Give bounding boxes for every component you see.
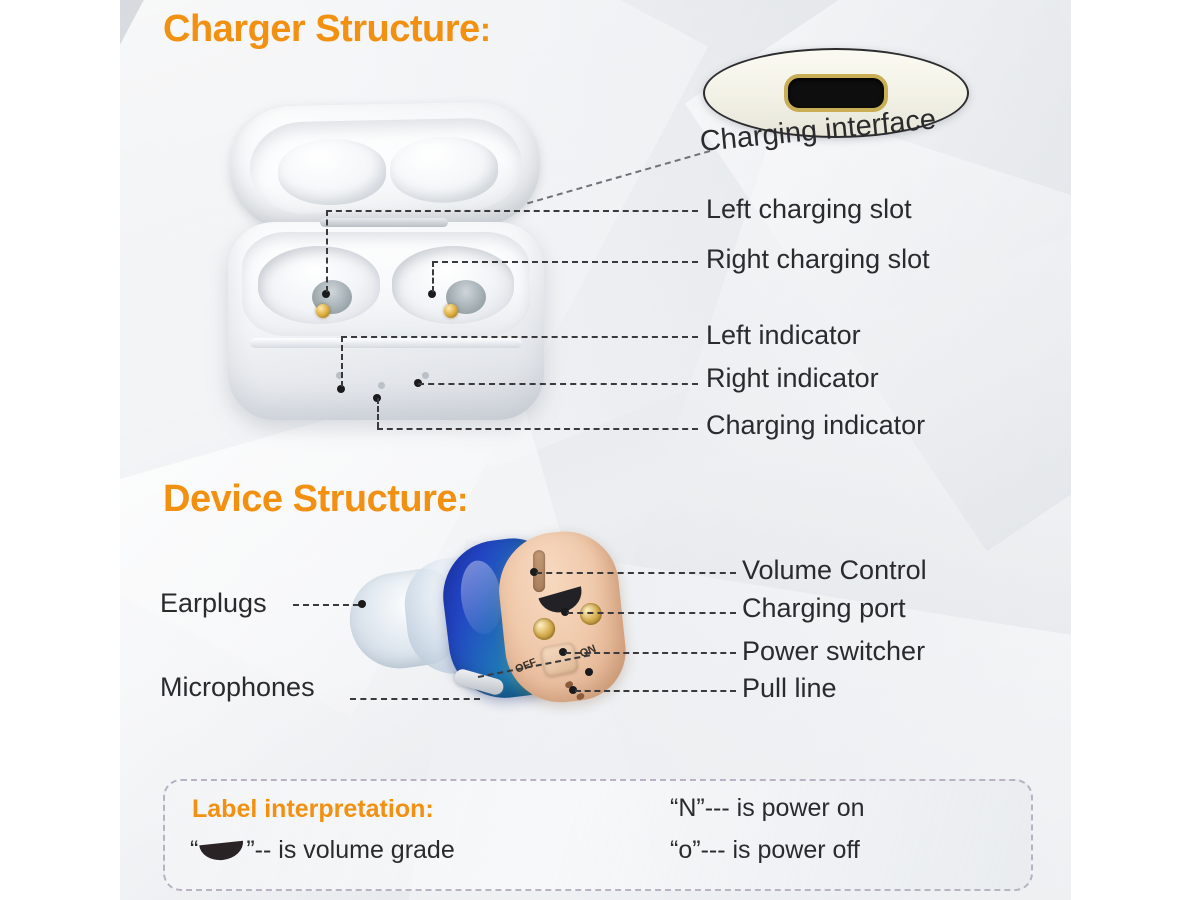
leader-volume-control: [536, 572, 736, 574]
leader-microphones-h: [350, 698, 480, 700]
legend-title: Label interpretation:: [192, 795, 434, 824]
leader-charging-indicator-v: [377, 398, 379, 428]
microphone-hole: [576, 692, 586, 701]
legend-power-on-dashes: ---: [705, 794, 730, 822]
right-charging-slot-art: [392, 246, 514, 324]
usb-c-port-icon: [784, 74, 888, 112]
label-volume-control: Volume Control: [742, 557, 927, 584]
legend-box: Label interpretation: “”-- is volume gra…: [163, 779, 1033, 891]
legend-power-on-text: is power on: [737, 794, 865, 822]
label-microphones: Microphones: [160, 674, 315, 701]
leader-charging-indicator-h: [377, 428, 698, 430]
case-body: [228, 222, 544, 420]
case-lid-inner: [249, 117, 523, 215]
leader-right-indicator-h: [418, 383, 698, 385]
label-right-charging-slot: Right charging slot: [706, 246, 930, 273]
charging-indicator-led: [378, 382, 385, 389]
infographic-canvas: Charger Structure:: [0, 0, 1200, 900]
charger-heading-colon: :: [480, 11, 491, 49]
label-left-charging-slot: Left charging slot: [706, 196, 912, 223]
legend-power-off-symbol: “o”: [670, 836, 701, 864]
case-hinge: [320, 218, 448, 227]
leader-power-switcher: [565, 652, 736, 654]
quote-open: “: [190, 836, 198, 864]
charger-section-heading: Charger Structure:: [163, 8, 491, 51]
case-lip: [250, 338, 522, 348]
leader-left-charging-slot-h: [326, 210, 698, 212]
leader-left-indicator-v: [341, 336, 343, 387]
label-left-indicator: Left indicator: [706, 322, 861, 349]
legend-power-on-row: “N”--- is power on: [670, 794, 865, 823]
label-pull-line: Pull line: [742, 675, 837, 702]
leader-charging-port: [567, 612, 736, 614]
quote-close: ”: [246, 836, 254, 864]
leader-pull-line: [575, 690, 736, 692]
charging-case-illustration: [228, 104, 548, 424]
label-charging-port: Charging port: [742, 595, 906, 622]
label-power-switcher: Power switcher: [742, 638, 925, 665]
device-section-heading: Device Structure:: [163, 478, 468, 521]
left-charging-slot-art: [258, 246, 380, 324]
leader-left-indicator-h: [341, 336, 698, 338]
label-charging-indicator: Charging indicator: [706, 412, 925, 439]
hearing-aid-illustration: OFF ON: [350, 528, 615, 723]
leader-right-charging-slot-h: [432, 261, 698, 263]
label-right-indicator: Right indicator: [706, 365, 879, 392]
leader-dot-earplugs: [358, 600, 366, 608]
lid-cavity-right: [389, 136, 498, 204]
leader-dot-microphones: [585, 668, 593, 676]
legend-volume-text: is volume grade: [278, 836, 454, 864]
legend-volume-dashes: --: [255, 836, 272, 864]
left-slot-gold-pin: [316, 304, 330, 318]
label-earplugs: Earplugs: [160, 590, 267, 617]
leader-earplugs: [293, 604, 359, 606]
leader-right-charging-slot-v: [432, 261, 434, 292]
device-heading-text: Device Structure: [163, 478, 457, 520]
case-body-top: [242, 232, 530, 336]
volume-crescent-icon: [200, 841, 246, 863]
legend-power-off-dashes: ---: [701, 836, 726, 864]
legend-power-off-text: is power off: [733, 836, 860, 864]
legend-power-off-row: “o”--- is power off: [670, 836, 860, 865]
legend-power-on-symbol: “N”: [670, 794, 705, 822]
charging-contact-left: [532, 617, 556, 641]
right-slot-gold-pin: [444, 304, 458, 318]
right-indicator-led: [422, 372, 429, 379]
charger-heading-text: Charger Structure: [163, 8, 480, 50]
device-heading-colon: :: [457, 481, 468, 519]
leader-left-charging-slot-v: [326, 210, 328, 292]
legend-volume-grade-row: “”-- is volume grade: [190, 836, 455, 865]
lid-cavity-left: [277, 138, 386, 206]
